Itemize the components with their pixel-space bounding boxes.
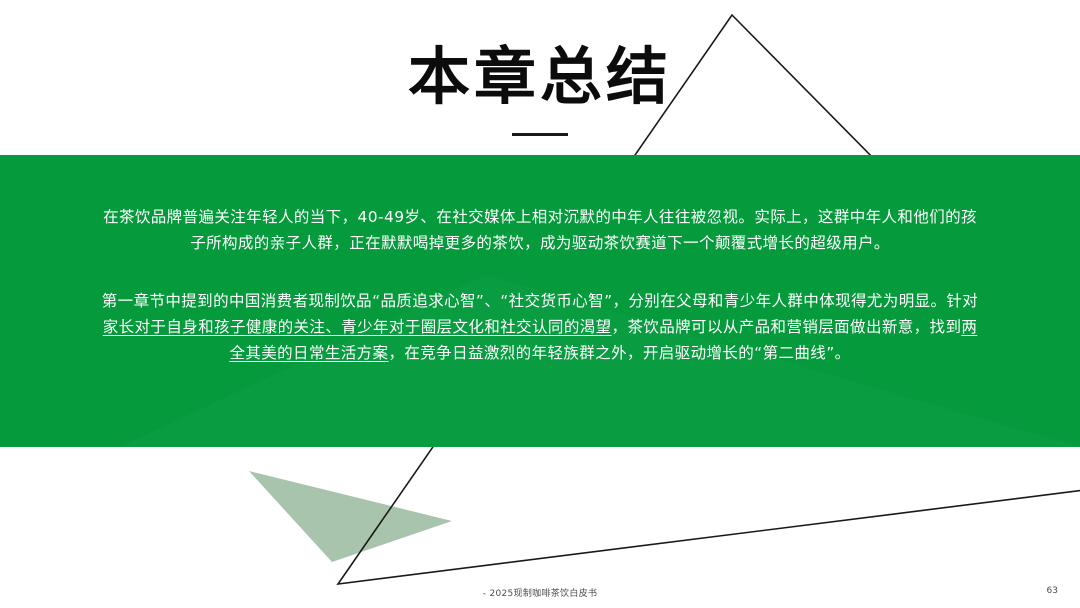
green-content-band: 在茶饮品牌普遍关注年轻人的当下，40-49岁、在社交媒体上相对沉默的中年人往往被… xyxy=(0,155,1080,447)
summary-paragraph-two-underlined-run-1: 家长对于自身和孩子健康的关注、青少年对于圈层文化和社交认同的渴望 xyxy=(103,318,612,336)
summary-paragraph-two-run-2: ，茶饮品牌可以从产品和营销层面做出新意，找到 xyxy=(612,318,962,336)
summary-paragraph-two: 第一章节中提到的中国消费者现制饮品“品质追求心智”、“社交货币心智”，分别在父母… xyxy=(100,288,980,366)
slide-canvas: 在茶饮品牌普遍关注年轻人的当下，40-49岁、在社交媒体上相对沉默的中年人往往被… xyxy=(0,0,1080,608)
page-title: 本章总结 xyxy=(0,44,1080,109)
title-block: 本章总结 xyxy=(0,44,1080,136)
footer-source-note: - 2025现制咖啡茶饮白皮书 xyxy=(0,586,1080,599)
band-text-wrapper: 在茶饮品牌普遍关注年轻人的当下，40-49岁、在社交媒体上相对沉默的中年人往往被… xyxy=(0,155,1080,366)
page-number: 63 xyxy=(1047,586,1058,596)
summary-paragraph-two-run-4: ，在竞争日益激烈的年轻族群之外，开启驱动增长的“第二曲线”。 xyxy=(388,344,850,362)
summary-paragraph-one: 在茶饮品牌普遍关注年轻人的当下，40-49岁、在社交媒体上相对沉默的中年人往往被… xyxy=(100,204,980,256)
title-divider-rule xyxy=(512,133,568,136)
summary-paragraph-two-run-0: 第一章节中提到的中国消费者现制饮品“品质追求心智”、“社交货币心智”，分别在父母… xyxy=(102,292,978,310)
sage-filled-triangle xyxy=(249,471,452,562)
summary-paragraph-one-run-0: 在茶饮品牌普遍关注年轻人的当下，40-49岁、在社交媒体上相对沉默的中年人往往被… xyxy=(103,208,977,252)
